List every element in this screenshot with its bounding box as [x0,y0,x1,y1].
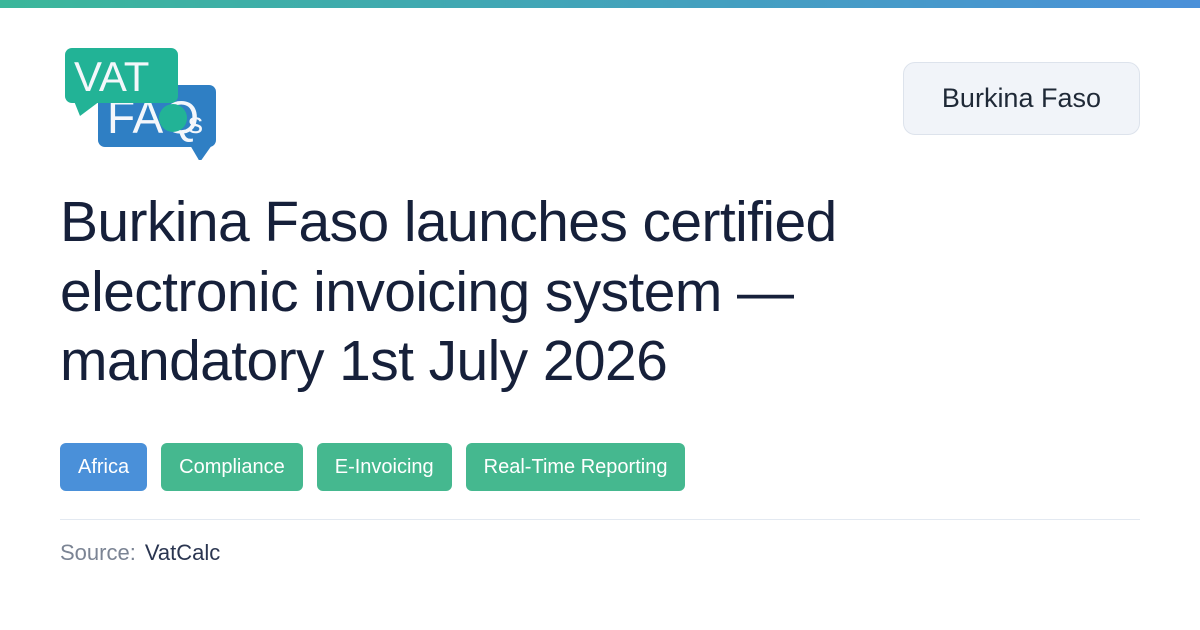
country-badge[interactable]: Burkina Faso [903,62,1140,135]
svg-text:VAT: VAT [74,53,149,100]
svg-text:s: s [188,107,203,140]
source-line: Source: VatCalc [60,542,1140,564]
vatfaqs-logo[interactable]: FAQ s VAT [60,40,230,160]
header: FAQ s VAT Burkina Faso [0,8,1200,160]
source-label: Source: [60,542,136,564]
footer-divider [60,519,1140,520]
tag-e-invoicing[interactable]: E-Invoicing [317,443,452,491]
top-gradient-bar [0,0,1200,8]
tag-real-time-reporting[interactable]: Real-Time Reporting [466,443,686,491]
page-title: Burkina Faso launches certified electron… [60,188,1060,397]
tag-compliance[interactable]: Compliance [161,443,303,491]
tag-list: Africa Compliance E-Invoicing Real-Time … [60,443,1140,491]
source-name[interactable]: VatCalc [145,542,220,564]
article-card: FAQ s VAT Burkina Faso Burkina Faso laun… [0,0,1200,630]
tag-africa[interactable]: Africa [60,443,147,491]
main-content: Burkina Faso launches certified electron… [0,160,1200,630]
